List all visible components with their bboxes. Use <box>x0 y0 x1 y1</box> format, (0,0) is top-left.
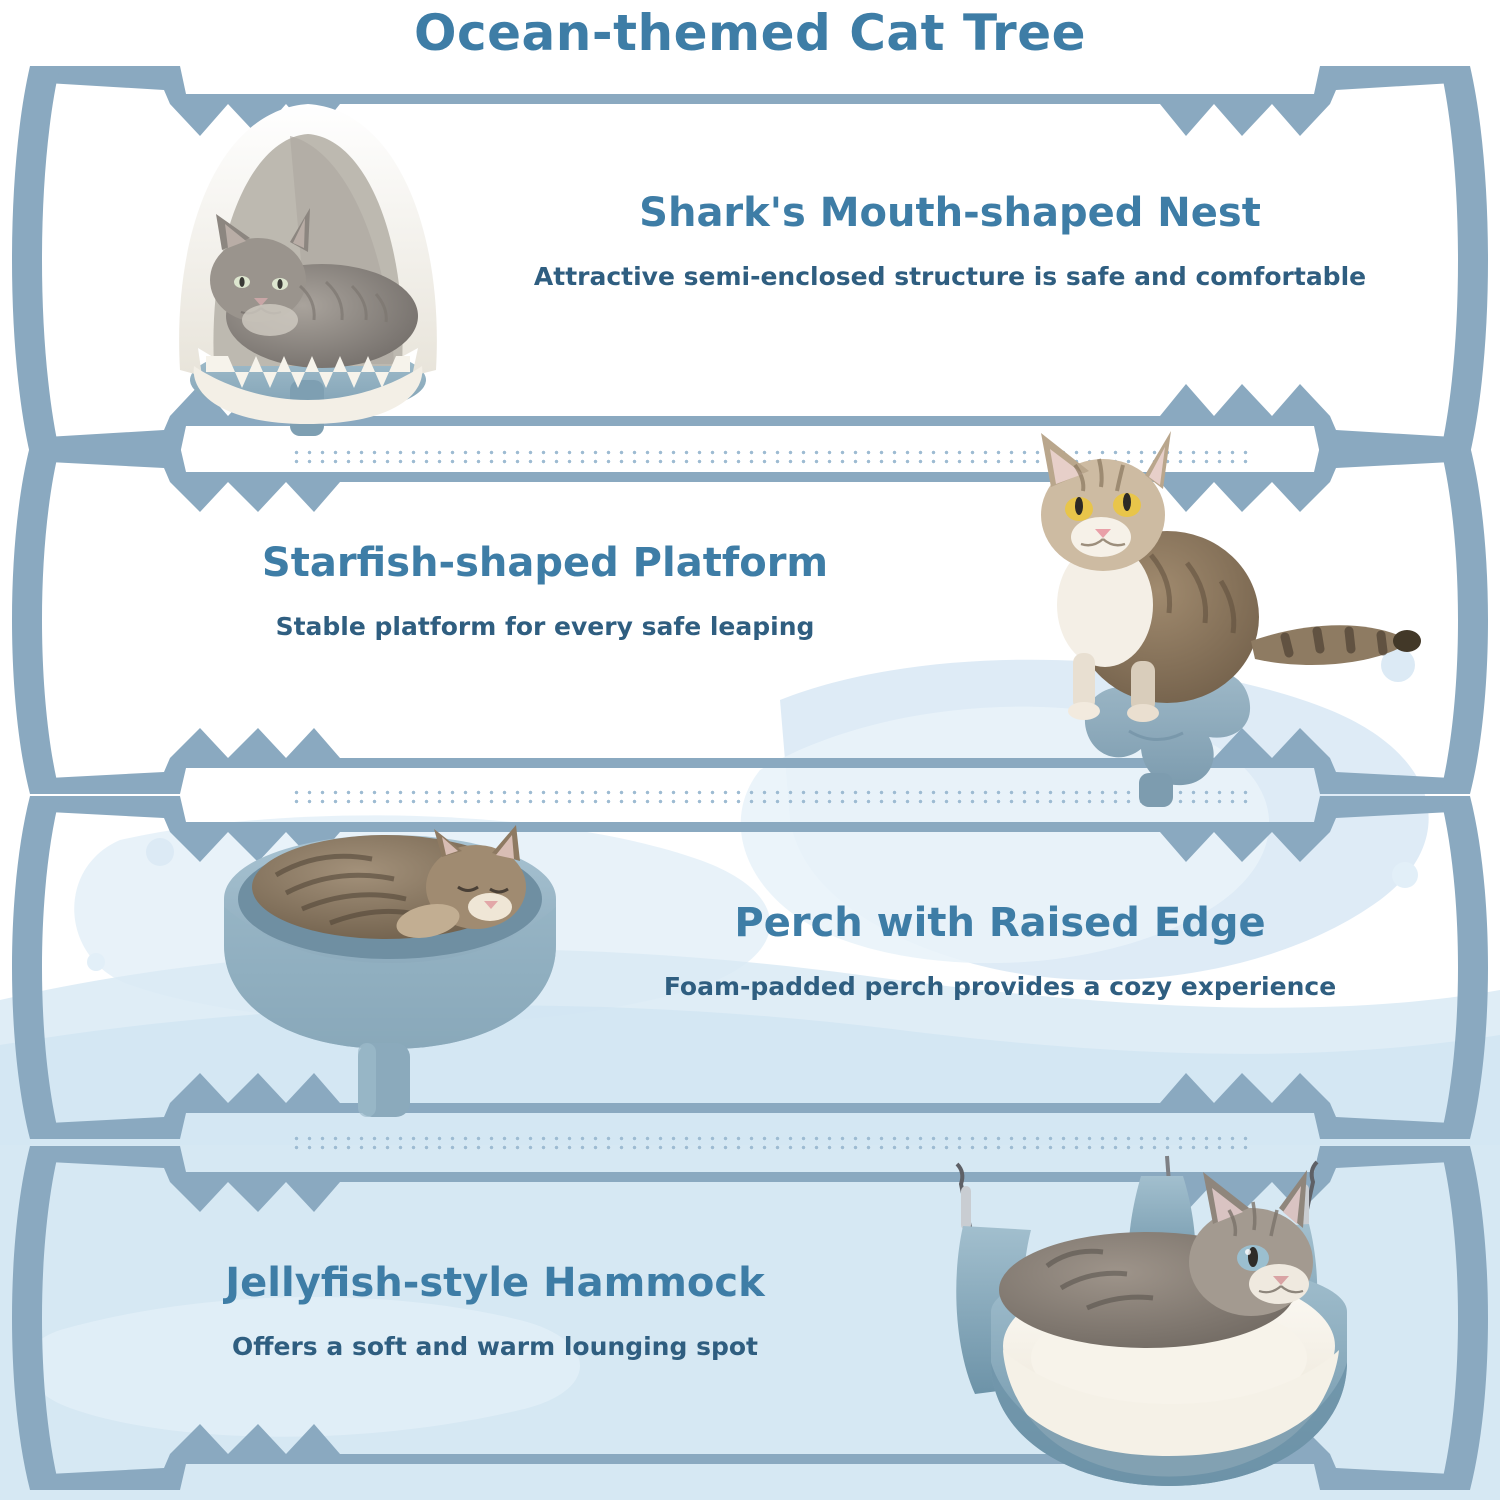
panel-shark-nest-subtext: Attractive semi-enclosed structure is sa… <box>500 262 1400 292</box>
panel-starfish-heading: Starfish-shaped Platform <box>110 540 980 586</box>
panel-shark-nest-text: Shark's Mouth-shaped Nest Attractive sem… <box>500 190 1400 292</box>
photo-shark-mouth-nest <box>150 80 470 450</box>
photo-starfish-platform <box>955 405 1435 790</box>
infographic-page: Ocean-themed Cat Tree <box>0 0 1500 1500</box>
panel-starfish-subtext: Stable platform for every safe leaping <box>110 612 980 642</box>
panel-hammock-text: Jellyfish-style Hammock Offers a soft an… <box>80 1260 910 1362</box>
panel-hammock-heading: Jellyfish-style Hammock <box>80 1260 910 1306</box>
panel-shark-nest: Shark's Mouth-shaped Nest Attractive sem… <box>0 60 1500 460</box>
panel-shark-nest-heading: Shark's Mouth-shaped Nest <box>500 190 1400 236</box>
panel-perch-text: Perch with Raised Edge Foam-padded perch… <box>560 900 1440 1002</box>
page-title: Ocean-themed Cat Tree <box>0 4 1500 62</box>
panel-perch-subtext: Foam-padded perch provides a cozy experi… <box>560 972 1440 1002</box>
panel-starfish-text: Starfish-shaped Platform Stable platform… <box>110 540 980 642</box>
panel-perch-heading: Perch with Raised Edge <box>560 900 1440 946</box>
photo-raised-perch <box>190 795 590 1125</box>
panel-hammock-subtext: Offers a soft and warm lounging spot <box>80 1332 910 1362</box>
photo-jellyfish-hammock <box>935 1150 1405 1495</box>
